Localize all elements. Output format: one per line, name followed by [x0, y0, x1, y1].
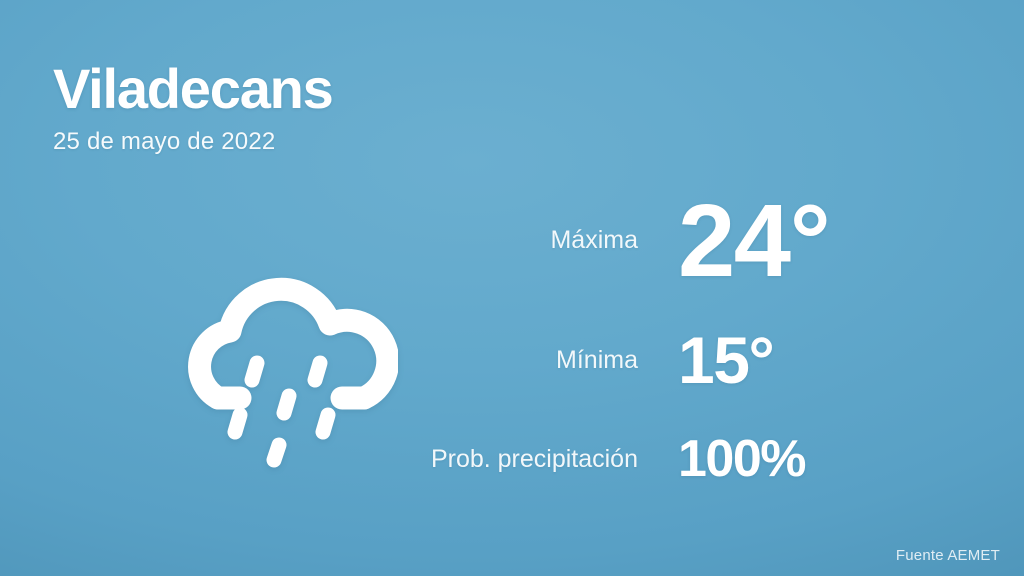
stat-row-maxima: Máxima 24°	[430, 176, 990, 304]
stat-label-maxima: Máxima	[430, 226, 678, 255]
page-title: Viladecans	[53, 60, 333, 118]
forecast-date: 25 de mayo de 2022	[53, 128, 333, 156]
forecast-stats: Máxima 24° Mínima 15° Prob. precipitació…	[430, 176, 990, 502]
stat-value-minima: 15°	[678, 327, 773, 393]
header: Viladecans 25 de mayo de 2022	[53, 60, 333, 156]
stat-label-precipitacion: Prob. precipitación	[430, 445, 678, 474]
stat-row-minima: Mínima 15°	[430, 304, 990, 416]
stat-row-precipitacion: Prob. precipitación 100%	[430, 416, 990, 502]
source-attribution: Fuente AEMET	[896, 547, 1000, 564]
weather-card: Viladecans 25 de mayo de 2022 Máxima	[0, 0, 1024, 576]
stat-value-maxima: 24°	[678, 189, 829, 292]
stat-label-minima: Mínima	[430, 346, 678, 375]
rain-cloud-icon	[178, 262, 398, 472]
stat-value-precipitacion: 100%	[678, 433, 805, 485]
